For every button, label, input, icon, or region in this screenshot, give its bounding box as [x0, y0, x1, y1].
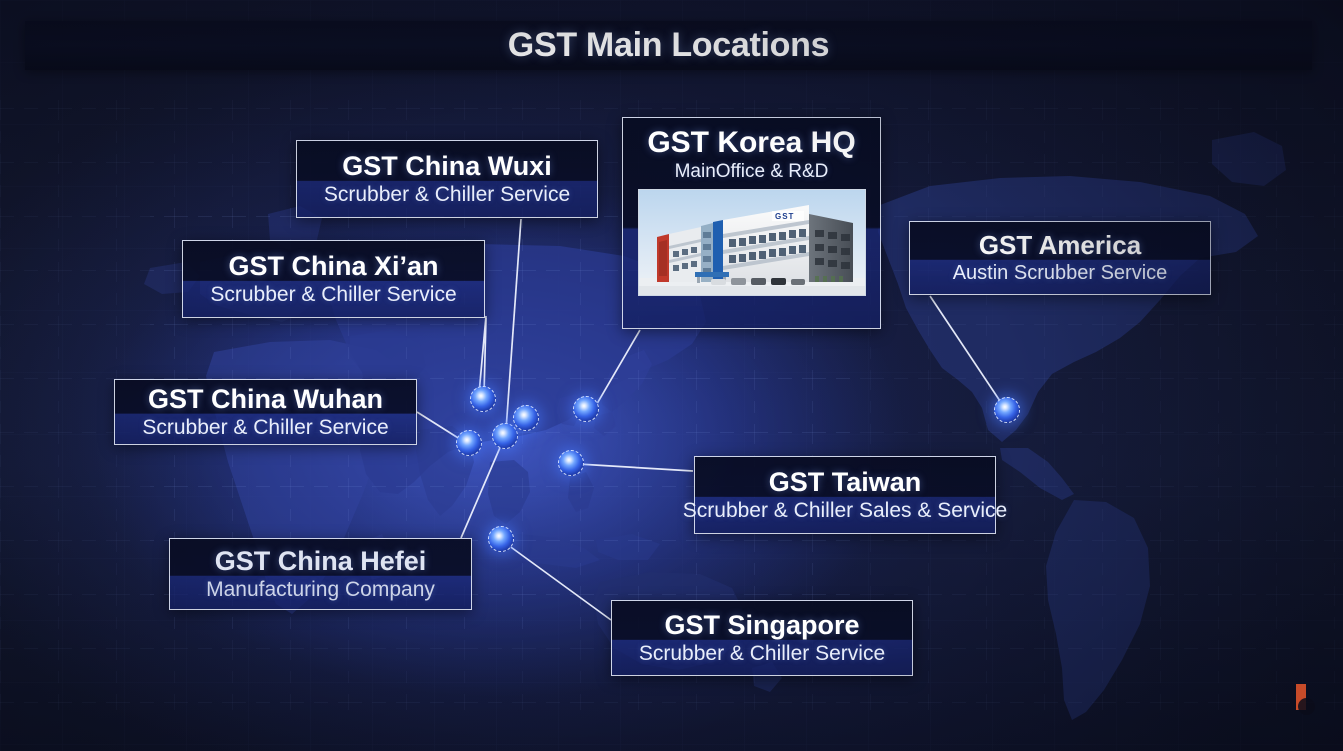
location-subtitle: Scrubber & Chiller Service [142, 416, 388, 440]
location-card-wuxi[interactable]: GST China Wuxi Scrubber & Chiller Servic… [296, 140, 598, 218]
location-name: GST China Hefei [215, 546, 427, 576]
dot-ring [470, 386, 496, 412]
dot-ring [513, 405, 539, 431]
korea-hq-building-photo: GST [638, 189, 866, 296]
svg-text:GST: GST [775, 212, 794, 221]
slide-canvas: GST China Wuxi Scrubber & Chiller Servic… [0, 0, 1343, 751]
location-name: GST China Wuxi [342, 151, 552, 181]
corner-logo-mark [1296, 684, 1306, 710]
location-card-wuhan[interactable]: GST China Wuhan Scrubber & Chiller Servi… [114, 379, 417, 445]
location-name: GST Korea HQ [647, 126, 855, 160]
location-card-xian[interactable]: GST China Xi’an Scrubber & Chiller Servi… [182, 240, 485, 318]
location-card-taiwan[interactable]: GST Taiwan Scrubber & Chiller Sales & Se… [694, 456, 996, 534]
map-dot-taiwan[interactable] [558, 450, 584, 476]
map-dot-xian[interactable] [470, 386, 496, 412]
location-name: GST China Wuhan [148, 384, 383, 414]
location-card-hefei[interactable]: GST China Hefei Manufacturing Company [169, 538, 472, 610]
map-dot-singapore[interactable] [488, 526, 514, 552]
location-subtitle: Scrubber & Chiller Service [639, 642, 885, 666]
dot-ring [994, 397, 1020, 423]
map-dot-wuhan[interactable] [456, 430, 482, 456]
location-name: GST Singapore [664, 610, 859, 640]
map-dot-america[interactable] [994, 397, 1020, 423]
dot-ring [573, 396, 599, 422]
dot-ring [488, 526, 514, 552]
location-card-america[interactable]: GST America Austin Scrubber Service [909, 221, 1211, 295]
dot-ring [456, 430, 482, 456]
map-dot-korea[interactable] [573, 396, 599, 422]
dot-ring [558, 450, 584, 476]
location-subtitle: Scrubber & Chiller Sales & Service [683, 499, 1007, 523]
location-name: GST China Xi’an [228, 251, 438, 281]
location-card-singapore[interactable]: GST Singapore Scrubber & Chiller Service [611, 600, 913, 676]
location-subtitle: Austin Scrubber Service [953, 262, 1168, 285]
location-card-korea[interactable]: GST Korea HQ MainOffice & R&D [622, 117, 881, 329]
page-title: GST Main Locations [508, 26, 829, 65]
location-name: GST America [979, 231, 1141, 260]
location-subtitle: MainOffice & R&D [675, 161, 829, 183]
slide-title-bar: GST Main Locations [25, 21, 1312, 70]
map-dot-hefei[interactable] [513, 405, 539, 431]
location-subtitle: Scrubber & Chiller Service [324, 183, 570, 207]
location-name: GST Taiwan [769, 467, 922, 497]
location-subtitle: Scrubber & Chiller Service [210, 283, 456, 307]
location-subtitle: Manufacturing Company [206, 578, 435, 602]
